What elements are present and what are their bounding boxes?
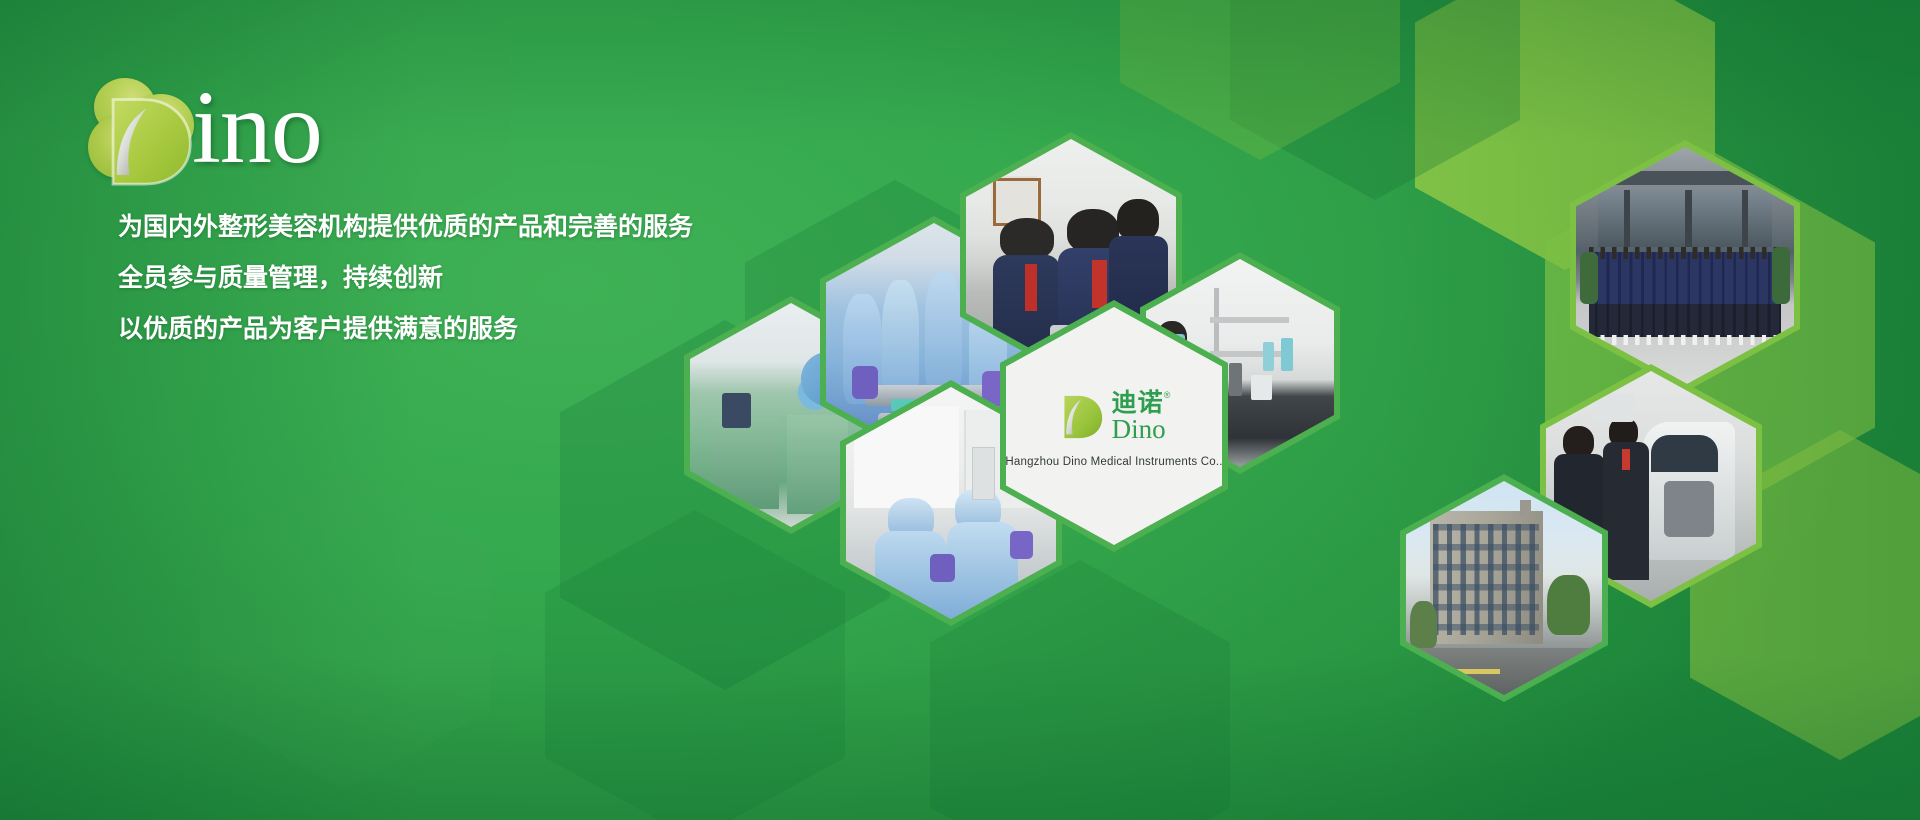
logo-leaf-d-icon (102, 94, 194, 186)
center-brand-name-cn: 迪诺 (1112, 390, 1164, 415)
photo-hex-staff-group[interactable] (1570, 140, 1800, 392)
center-brand-name-en: Dino (1112, 416, 1166, 443)
headline-line-1: 为国内外整形美容机构提供优质的产品和完善的服务 (118, 214, 878, 240)
center-brand-hexagon[interactable]: 迪诺 ® Dino Hangzhou Dino Medical Instrume… (1000, 300, 1228, 552)
registered-mark-icon: ® (1164, 390, 1171, 400)
center-brand-card: 迪诺 ® Dino Hangzhou Dino Medical Instrume… (1006, 307, 1222, 545)
hero-banner: ino 为国内外整形美容机构提供优质的产品和完善的服务 全员参与质量管理，持续创… (0, 0, 1920, 820)
center-dino-leaf-icon (1058, 394, 1104, 440)
center-company-line: Hangzhou Dino Medical Instruments Co.. (1005, 456, 1222, 468)
center-logo-row: 迪诺 ® Dino (1058, 390, 1171, 443)
photo-hex-factory-building[interactable] (1400, 474, 1608, 702)
logo-wordmark: ino (192, 76, 322, 180)
dino-logo[interactable]: ino (88, 72, 418, 182)
headline-line-2: 全员参与质量管理，持续创新 (118, 265, 878, 291)
